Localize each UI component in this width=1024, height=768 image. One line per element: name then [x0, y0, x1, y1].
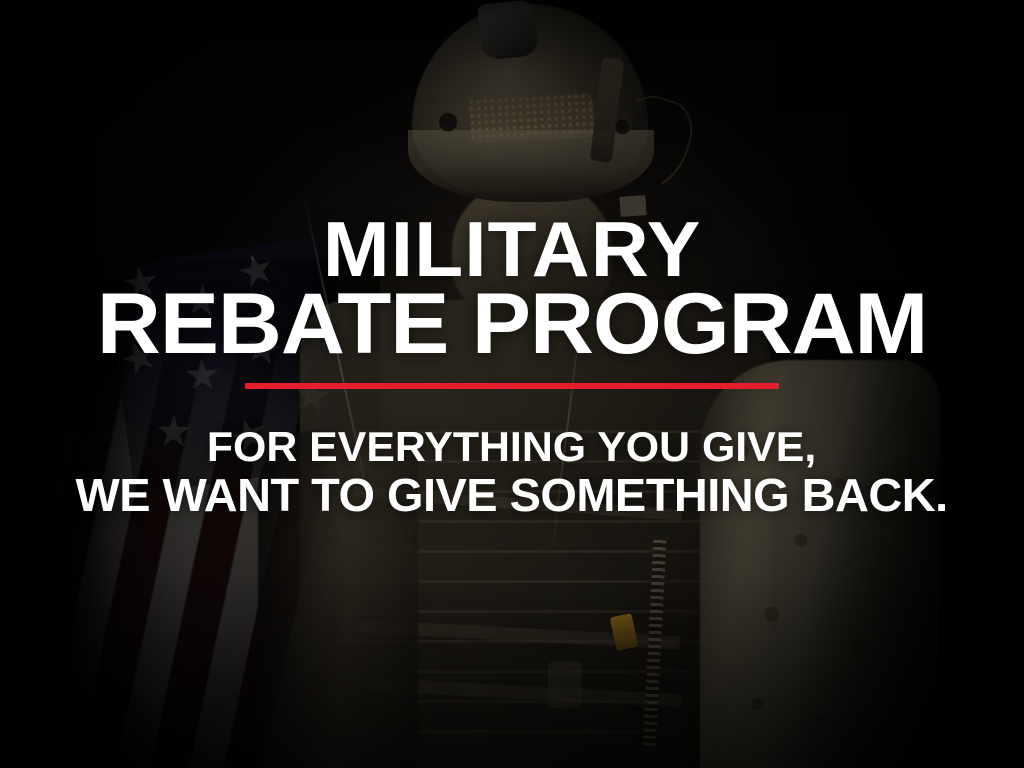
promo-banner: MILITARY REBATE PROGRAM FOR EVERYTHING Y…	[0, 0, 1024, 768]
text-overlay: MILITARY REBATE PROGRAM FOR EVERYTHING Y…	[0, 0, 1024, 768]
headline: MILITARY REBATE PROGRAM	[97, 212, 927, 365]
headline-line-2: REBATE PROGRAM	[97, 283, 927, 366]
subheadline-line-1: FOR EVERYTHING YOU GIVE,	[76, 423, 948, 470]
red-divider-rule	[245, 383, 779, 389]
subheadline: FOR EVERYTHING YOU GIVE, WE WANT TO GIVE…	[76, 423, 948, 522]
subheadline-line-2: WE WANT TO GIVE SOMETHING BACK.	[76, 470, 948, 522]
